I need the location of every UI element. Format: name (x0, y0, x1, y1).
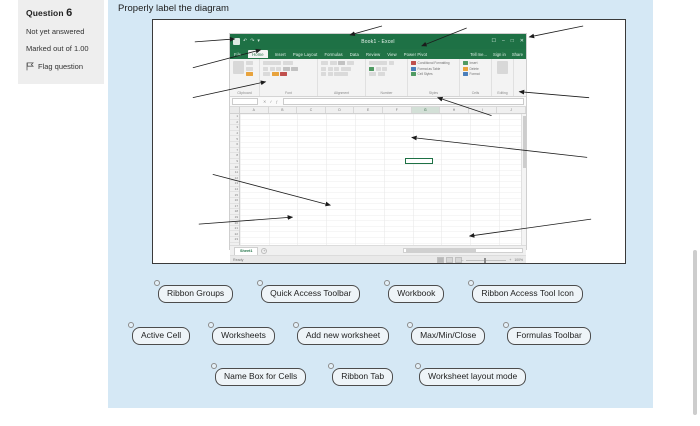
ribbon-group-cells[interactable]: Insert Delete Format Cells (460, 59, 492, 96)
row-header[interactable]: 23 (230, 237, 239, 243)
font-name-box[interactable] (263, 61, 281, 65)
diagram-image: ↶ ↷ ▾ Book1 - Excel ☐ – □ ✕ (153, 20, 625, 263)
increase-decimal-icon[interactable] (369, 72, 376, 76)
ribbon-group-label-styles: Styles (411, 91, 456, 96)
drag-handle-icon[interactable] (384, 280, 390, 286)
orientation-icon[interactable] (347, 61, 354, 65)
column-header-d[interactable]: D (326, 107, 355, 113)
drag-handle-icon[interactable] (293, 322, 299, 328)
page-scrollbar[interactable] (693, 250, 697, 415)
center-icon[interactable] (328, 67, 333, 71)
drag-chip-add-new-worksheet[interactable]: Add new worksheet (297, 327, 389, 345)
wrap-text-icon[interactable] (341, 67, 351, 71)
decrease-font-icon[interactable] (291, 67, 298, 71)
worksheet-grid[interactable]: A B C D E F G H I J (230, 107, 526, 245)
workbook-title: Book1 - Excel (230, 39, 526, 45)
answer-chip-row-3: Name Box for Cells Ribbon Tab Worksheet … (215, 368, 526, 386)
worksheets-bar[interactable]: Sheet1 + (230, 245, 526, 255)
ribbon-tab-formulas[interactable]: Formulas (324, 52, 342, 57)
cell-styles-label[interactable]: Cell Styles (418, 72, 433, 76)
flag-question-label: Flag question (38, 62, 83, 71)
drag-handle-icon[interactable] (407, 322, 413, 328)
drag-handle-icon[interactable] (257, 280, 263, 286)
zoom-slider[interactable] (466, 260, 506, 261)
zoom-out-icon[interactable]: – (461, 258, 463, 262)
horizontal-scrollbar[interactable] (403, 248, 523, 253)
vertical-scrollbar-thumb[interactable] (523, 116, 526, 168)
page-layout-view-icon[interactable] (446, 257, 453, 263)
align-left-icon[interactable] (321, 67, 326, 71)
delete-cells-icon[interactable] (463, 67, 468, 71)
drag-chip-worksheets[interactable]: Worksheets (212, 327, 275, 345)
ribbon-tab-review[interactable]: Review (366, 52, 380, 57)
drag-chip-formulas-toolbar[interactable]: Formulas Toolbar (507, 327, 591, 345)
column-headers[interactable]: A B C D E F G H I J (230, 107, 526, 114)
name-box-for-cells[interactable] (232, 98, 258, 105)
column-header-h[interactable]: H (440, 107, 469, 113)
paste-icon[interactable] (233, 61, 244, 74)
ribbon-tab-insert[interactable]: Insert (275, 52, 286, 57)
diagram-frame: ↶ ↷ ▾ Book1 - Excel ☐ – □ ✕ (152, 19, 626, 264)
drag-chip-label[interactable]: Active Cell (132, 327, 190, 345)
decrease-indent-icon[interactable] (321, 72, 326, 76)
drag-chip-label[interactable]: Worksheets (212, 327, 275, 345)
insert-cells-icon[interactable] (463, 61, 468, 65)
status-bar: Ready – + 100% (230, 255, 526, 263)
vertical-scrollbar[interactable] (521, 114, 526, 245)
excel-window: ↶ ↷ ▾ Book1 - Excel ☐ – □ ✕ (229, 33, 527, 250)
status-state: Ready (233, 258, 243, 262)
drag-chip-ribbon-groups[interactable]: Ribbon Groups (158, 285, 233, 303)
conditional-formatting-icon[interactable] (411, 61, 416, 65)
ribbon-group-alignment[interactable]: Alignment (318, 59, 366, 96)
ribbon-tab-file[interactable]: File (234, 52, 241, 57)
flag-question-button[interactable]: Flag question (26, 62, 96, 71)
drag-handle-icon[interactable] (468, 280, 474, 286)
drag-handle-icon[interactable] (211, 363, 217, 369)
conditional-formatting-label[interactable]: Conditional Formatting (418, 61, 450, 65)
increase-indent-icon[interactable] (328, 72, 333, 76)
window-buttons[interactable]: ☐ – □ ✕ (492, 39, 525, 44)
drag-handle-icon[interactable] (415, 363, 421, 369)
ribbon-tab-page-layout[interactable]: Page Layout (293, 52, 318, 57)
ribbon-group-label-cells: Cells (463, 91, 488, 96)
ribbon-tab-bar[interactable]: File Home Insert Page Layout Formulas Da… (230, 49, 526, 59)
drag-handle-icon[interactable] (128, 322, 134, 328)
answer-area: Properly label the diagram ↶ ↷ ▾ Book1 -… (108, 0, 653, 408)
drag-chip-label[interactable]: Worksheet layout mode (419, 368, 526, 386)
share-button[interactable]: Share (512, 52, 523, 57)
column-header-c[interactable]: C (297, 107, 326, 113)
arrow-max-min-close (519, 92, 589, 98)
increase-font-icon[interactable] (283, 67, 290, 71)
drag-chip-max-min-close[interactable]: Max/Min/Close (411, 327, 485, 345)
font-color-icon[interactable] (280, 72, 287, 76)
drag-chip-label[interactable]: Quick Access Toolbar (261, 285, 360, 303)
zoom-control[interactable]: – + 100% (461, 258, 523, 262)
ribbon-tab-power-pivot[interactable]: Power Pivot (404, 52, 427, 57)
underline-icon[interactable] (276, 67, 281, 71)
delete-cells-label[interactable]: Delete (470, 67, 479, 71)
drag-chip-ribbon-access-tool-icon[interactable]: Ribbon Access Tool Icon (472, 285, 582, 303)
copy-icon[interactable] (246, 67, 253, 71)
drag-handle-icon[interactable] (208, 322, 214, 328)
fill-color-icon[interactable] (272, 72, 279, 76)
align-top-icon[interactable] (321, 61, 328, 65)
drag-chip-quick-access-toolbar[interactable]: Quick Access Toolbar (261, 285, 360, 303)
column-header-i[interactable]: I (469, 107, 498, 113)
drag-chip-active-cell[interactable]: Active Cell (132, 327, 190, 345)
cut-icon[interactable] (246, 61, 253, 65)
drag-chip-label[interactable]: Ribbon Tab (332, 368, 393, 386)
quiz-page: Question 6 Not yet answered Marked out o… (0, 0, 700, 426)
cancel-icon[interactable]: ✕ (263, 99, 266, 104)
question-number: 6 (66, 7, 72, 19)
insert-function-icon[interactable]: ƒ (276, 99, 278, 104)
currency-icon[interactable] (369, 67, 374, 71)
ribbon-tab-data[interactable]: Data (350, 52, 359, 57)
question-title: Question 6 (26, 7, 96, 19)
ribbon-group-label-number: Number (369, 91, 404, 96)
format-as-table-label[interactable]: Format as Table (418, 67, 441, 71)
drag-handle-icon[interactable] (154, 280, 160, 286)
ribbon-group-font[interactable]: Font (260, 59, 318, 96)
formula-input[interactable] (283, 98, 524, 105)
question-marks: Marked out of 1.00 (26, 44, 96, 53)
italic-icon[interactable] (270, 67, 275, 71)
drag-chip-label[interactable]: Ribbon Groups (158, 285, 233, 303)
select-all-corner[interactable] (230, 107, 240, 113)
drag-chip-name-box-for-cells[interactable]: Name Box for Cells (215, 368, 306, 386)
drag-chip-label[interactable]: Formulas Toolbar (507, 327, 591, 345)
ribbon-group-clipboard[interactable]: Clipboard (230, 59, 260, 96)
cell-styles-icon[interactable] (411, 72, 416, 76)
ribbon-tab-home[interactable]: Home (248, 50, 268, 58)
font-size-box[interactable] (283, 61, 293, 65)
ribbon-group-label-font: Font (263, 91, 314, 96)
arrow-ribbon-access-tool-icon (529, 26, 583, 37)
editing-icon[interactable] (497, 61, 508, 74)
formulas-toolbar[interactable]: ✕ ✓ ƒ (230, 97, 526, 107)
drag-handle-icon[interactable] (503, 322, 509, 328)
enter-icon[interactable]: ✓ (269, 99, 272, 104)
ribbon-display-options-icon[interactable]: ☐ (492, 39, 496, 44)
question-prompt: Properly label the diagram (118, 3, 229, 14)
grid-body[interactable]: 1 2 3 4 5 6 7 8 9 10 11 (230, 114, 526, 245)
percent-icon[interactable] (376, 67, 381, 71)
ribbon-group-number[interactable]: Number (366, 59, 408, 96)
align-bottom-icon[interactable] (338, 61, 345, 65)
align-middle-icon[interactable] (330, 61, 337, 65)
column-header-g[interactable]: G (412, 107, 441, 113)
bold-icon[interactable] (263, 67, 268, 71)
question-info-box: Question 6 Not yet answered Marked out o… (18, 0, 104, 84)
drag-chip-label[interactable]: Workbook (388, 285, 444, 303)
flag-icon (26, 62, 34, 71)
excel-title-bar: ↶ ↷ ▾ Book1 - Excel ☐ – □ ✕ (230, 34, 526, 49)
format-cells-label[interactable]: Format (470, 72, 480, 76)
column-header-b[interactable]: B (269, 107, 298, 113)
column-header-f[interactable]: F (383, 107, 412, 113)
drag-chip-workbook[interactable]: Workbook (388, 285, 444, 303)
drag-handle-icon[interactable] (328, 363, 334, 369)
drag-chip-label[interactable]: Add new worksheet (297, 327, 389, 345)
worksheet-tab-sheet1[interactable]: Sheet1 (234, 247, 258, 255)
column-header-j[interactable]: J (497, 107, 526, 113)
minimize-icon[interactable]: – (502, 39, 505, 44)
restore-icon[interactable]: □ (511, 39, 514, 44)
drag-chip-label[interactable]: Max/Min/Close (411, 327, 485, 345)
align-right-icon[interactable] (334, 67, 339, 71)
active-cell[interactable] (405, 158, 433, 164)
row-headers[interactable]: 1 2 3 4 5 6 7 8 9 10 11 (230, 114, 240, 245)
format-painter-icon[interactable] (246, 72, 253, 76)
answer-chip-row-2: Active Cell Worksheets Add new worksheet… (132, 327, 591, 345)
ribbon-group-styles[interactable]: Conditional Formatting Format as Table C… (408, 59, 460, 96)
grid-cells[interactable] (240, 114, 526, 245)
column-header-a[interactable]: A (240, 107, 269, 113)
ribbon-group-label-clipboard: Clipboard (233, 91, 256, 96)
ribbon-groups[interactable]: Clipboard (230, 59, 526, 97)
answer-chip-row-1: Ribbon Groups Quick Access Toolbar Workb… (158, 285, 583, 303)
drag-chip-ribbon-tab[interactable]: Ribbon Tab (332, 368, 393, 386)
ribbon-group-label-editing: Editing (497, 91, 507, 96)
insert-cells-label[interactable]: Insert (470, 61, 478, 65)
zoom-level-label: 100% (514, 258, 523, 262)
merge-center-icon[interactable] (334, 72, 348, 76)
number-format-dropdown-icon[interactable] (389, 61, 394, 65)
borders-icon[interactable] (263, 72, 270, 76)
question-title-label: Question (26, 8, 64, 18)
worksheet-layout-mode[interactable] (437, 257, 462, 263)
ribbon-right-tools[interactable]: Tell me... Sign in Share (470, 52, 523, 57)
zoom-slider-knob[interactable] (484, 258, 486, 263)
format-as-table-icon[interactable] (411, 67, 416, 71)
question-status: Not yet answered (26, 27, 96, 36)
horizontal-scrollbar-thumb[interactable] (406, 249, 476, 252)
comma-icon[interactable] (382, 67, 387, 71)
drag-chip-worksheet-layout-mode[interactable]: Worksheet layout mode (419, 368, 526, 386)
column-header-e[interactable]: E (354, 107, 383, 113)
ribbon-group-editing[interactable]: Editing (492, 59, 514, 96)
add-new-worksheet-button[interactable]: + (261, 248, 267, 254)
decrease-decimal-icon[interactable] (378, 72, 385, 76)
normal-view-icon[interactable] (437, 257, 444, 263)
ribbon-tab-view[interactable]: View (387, 52, 396, 57)
drag-chip-label[interactable]: Ribbon Access Tool Icon (472, 285, 582, 303)
ribbon-group-label-alignment: Alignment (321, 91, 362, 96)
tell-me-search[interactable]: Tell me... (470, 52, 487, 57)
format-cells-icon[interactable] (463, 72, 468, 76)
zoom-in-icon[interactable]: + (509, 258, 511, 262)
drag-chip-label[interactable]: Name Box for Cells (215, 368, 306, 386)
number-format-box[interactable] (369, 61, 387, 65)
close-icon[interactable]: ✕ (520, 39, 524, 44)
sign-in-link[interactable]: Sign in (493, 52, 506, 57)
